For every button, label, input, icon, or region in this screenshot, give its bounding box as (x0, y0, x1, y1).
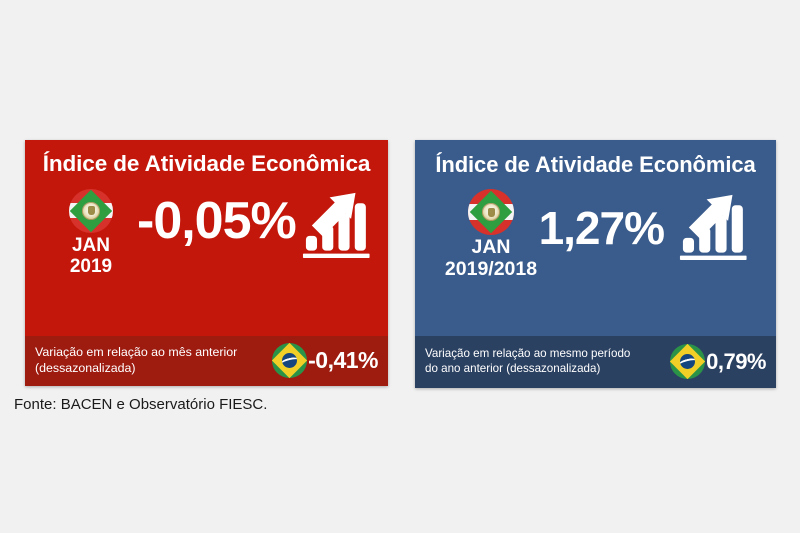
main-value: 1,27% (539, 201, 664, 255)
infographic-stage: Índice de Atividade Econômica JAN 2019 -… (0, 0, 800, 533)
main-value: -0,05% (137, 191, 296, 251)
card-economic-activity-monthly: Índice de Atividade Econômica JAN 2019 -… (25, 140, 388, 386)
footer-metric: 0,79% (670, 344, 766, 379)
card-economic-activity-yearly: Índice de Atividade Econômica JAN 2019/2… (415, 140, 776, 388)
date-month-label: JAN (427, 237, 555, 259)
santa-catarina-flag-icon (468, 189, 514, 235)
brazil-flag-icon (670, 344, 705, 379)
card-title: Índice de Atividade Econômica (415, 140, 776, 177)
footer-value: -0,41% (308, 347, 378, 374)
date-year-label: 2019 (41, 256, 141, 277)
footer-description: Variação em relação ao mês anterior (des… (35, 345, 240, 377)
card-body: JAN 2019/2018 1,27% (415, 177, 776, 336)
date-block: JAN 2019 (41, 189, 141, 278)
card-footer: Variação em relação ao mesmo período do … (415, 336, 776, 388)
flag-globe (680, 354, 695, 369)
date-block: JAN 2019/2018 (427, 189, 555, 281)
brazil-flag-icon (272, 343, 307, 378)
card-footer: Variação em relação ao mês anterior (des… (25, 336, 388, 386)
flag-coat-of-arms (82, 202, 100, 220)
card-body: JAN 2019 -0,05% (25, 177, 388, 336)
bar-chart-up-arrow-icon (300, 187, 374, 261)
santa-catarina-flag-icon (69, 189, 113, 233)
bar-chart-up-arrow-icon (677, 189, 751, 263)
date-month-label: JAN (41, 235, 141, 256)
source-note: Fonte: BACEN e Observatório FIESC. (14, 396, 267, 413)
footer-value: 0,79% (706, 349, 766, 375)
footer-description: Variação em relação ao mesmo período do … (425, 347, 640, 377)
footer-metric: -0,41% (272, 343, 378, 378)
card-title: Índice de Atividade Econômica (25, 140, 388, 177)
date-year-label: 2019/2018 (427, 259, 555, 281)
flag-globe (282, 353, 297, 368)
